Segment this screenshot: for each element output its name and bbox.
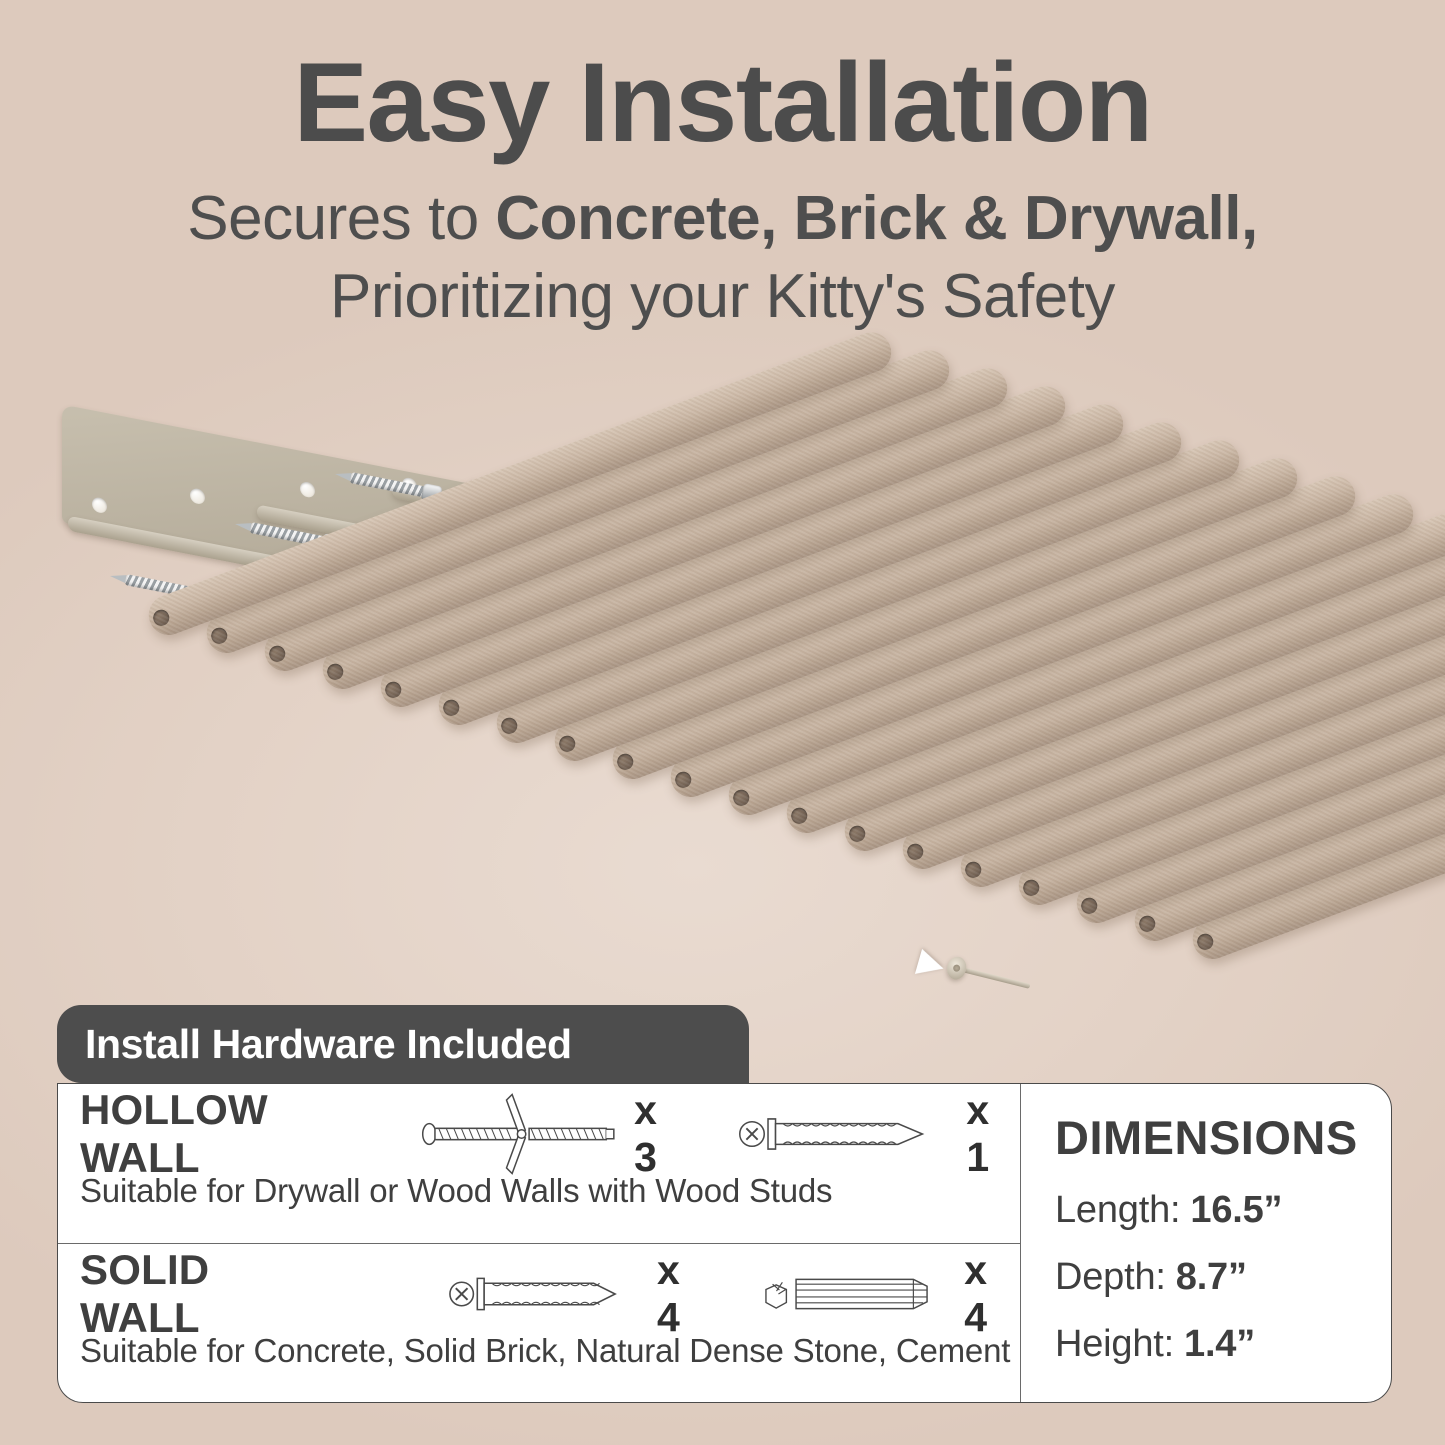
slat-end-hole bbox=[209, 626, 230, 647]
slat-end-hole bbox=[557, 734, 578, 755]
slat-end-hole bbox=[673, 770, 694, 791]
hardware-note: Suitable for Concrete, Solid Brick, Natu… bbox=[80, 1332, 1020, 1370]
slat-end-hole bbox=[499, 716, 520, 737]
slat-end-hole bbox=[789, 806, 810, 827]
product-illustration bbox=[0, 420, 1445, 1040]
install-hardware-tab-label: Install Hardware Included bbox=[85, 1021, 572, 1068]
hardware-item: x 1 bbox=[736, 1087, 1020, 1181]
hardware-column: HOLLOW WALL bbox=[58, 1084, 1021, 1402]
hardware-item: x 4 bbox=[447, 1247, 712, 1341]
flat-head-screw-icon bbox=[447, 1268, 643, 1320]
bracket-hole bbox=[92, 496, 107, 514]
slat-end-hole bbox=[847, 824, 868, 845]
hardware-name: SOLID WALL bbox=[80, 1246, 335, 1342]
subtitle-line-2: Prioritizing your Kitty's Safety bbox=[0, 262, 1445, 331]
hardware-qty: x 4 bbox=[964, 1247, 1020, 1341]
hardware-qty: x 4 bbox=[657, 1247, 713, 1341]
slat-end-hole bbox=[1079, 896, 1100, 917]
subtitle-prefix: Secures to bbox=[187, 184, 495, 253]
info-panel: HOLLOW WALL bbox=[57, 1083, 1392, 1403]
hardware-item: x 4 bbox=[755, 1247, 1020, 1341]
dimension-label: Length: bbox=[1055, 1189, 1180, 1231]
slat-end-hole bbox=[1195, 932, 1216, 953]
infographic-canvas: Easy Installation Secures to Concrete, B… bbox=[0, 0, 1445, 1445]
dimensions-title: DIMENSIONS bbox=[1055, 1110, 1391, 1165]
dimension-value: 8.7” bbox=[1176, 1256, 1247, 1298]
hardware-qty: x 1 bbox=[966, 1087, 1020, 1181]
slat-end-hole bbox=[731, 788, 752, 809]
direction-arrow-icon bbox=[915, 949, 947, 981]
dimension-label: Depth: bbox=[1055, 1256, 1166, 1298]
bracket-hole bbox=[190, 487, 205, 505]
wall-anchor-icon bbox=[755, 1268, 951, 1320]
dimension-value: 1.4” bbox=[1184, 1323, 1255, 1365]
slat-end-hole bbox=[325, 662, 346, 683]
slat-end-hole bbox=[383, 680, 404, 701]
dimension-depth: Depth:8.7” bbox=[1055, 1256, 1391, 1299]
hardware-row-solid-wall: SOLID WALL x 4 bbox=[58, 1243, 1020, 1403]
dimension-length: Length:16.5” bbox=[1055, 1189, 1391, 1232]
dimension-label: Height: bbox=[1055, 1323, 1174, 1365]
install-hardware-tab: Install Hardware Included bbox=[57, 1005, 749, 1083]
page-title: Easy Installation bbox=[0, 46, 1445, 160]
dimension-value: 16.5” bbox=[1190, 1189, 1282, 1231]
slat-end-hole bbox=[1137, 914, 1158, 935]
subtitle-line-1: Secures to Concrete, Brick & Drywall, bbox=[0, 184, 1445, 253]
dimension-height: Height:1.4” bbox=[1055, 1323, 1391, 1366]
slat-end-hole bbox=[963, 860, 984, 881]
assembly-pin-icon bbox=[961, 965, 963, 974]
slat-end-hole bbox=[615, 752, 636, 773]
header: Easy Installation Secures to Concrete, B… bbox=[0, 46, 1445, 331]
hardware-row-hollow-wall: HOLLOW WALL bbox=[58, 1084, 1020, 1243]
slat-end-hole bbox=[151, 608, 172, 629]
slat-end-hole bbox=[267, 644, 288, 665]
bracket-hole bbox=[300, 481, 315, 499]
subtitle-bold: Concrete, Brick & Drywall, bbox=[495, 184, 1257, 253]
dimensions-column: DIMENSIONS Length:16.5” Depth:8.7” Heigh… bbox=[1021, 1084, 1391, 1402]
hardware-qty: x 3 bbox=[634, 1087, 688, 1181]
toggle-bolt-icon bbox=[418, 1086, 620, 1182]
wood-screw-icon bbox=[736, 1106, 953, 1162]
slat-end-hole bbox=[905, 842, 926, 863]
slat-end-hole bbox=[441, 698, 462, 719]
slat-end-hole bbox=[1021, 878, 1042, 899]
hardware-name: HOLLOW WALL bbox=[80, 1086, 382, 1182]
hardware-item: x 3 bbox=[418, 1086, 688, 1182]
